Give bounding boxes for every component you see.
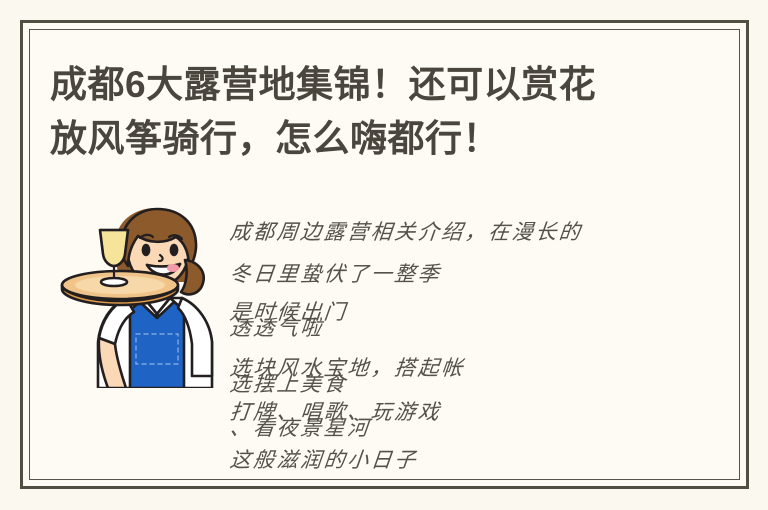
article-page: 成都6大露营地集锦！还可以赏花 放风筝骑行，怎么嗨都行！ (0, 0, 768, 510)
body-line-2: 冬日里蛰伏了一整季 (228, 258, 443, 288)
body-line-4: 透透气啦 (228, 312, 325, 342)
title-line-1: 成都6大露营地集锦！还可以赏花 (50, 58, 690, 112)
page-title: 成都6大露营地集锦！还可以赏花 放风筝骑行，怎么嗨都行！ (50, 58, 690, 166)
title-line-2: 放风筝骑行，怎么嗨都行！ (50, 112, 690, 166)
waitress-illustration (52, 202, 224, 388)
article-body: 成都周边露营相关介绍，在漫长的 冬日里蛰伏了一整季 是时候出门 透透气啦 选块风… (230, 212, 730, 474)
body-line-1: 成都周边露营相关介绍，在漫长的 (228, 216, 584, 246)
body-line-8: 、看夜景星河 (228, 412, 372, 442)
body-line-6: 选摆上美食 (228, 368, 349, 398)
body-line-9: 这般滋润的小日子 (228, 444, 419, 474)
